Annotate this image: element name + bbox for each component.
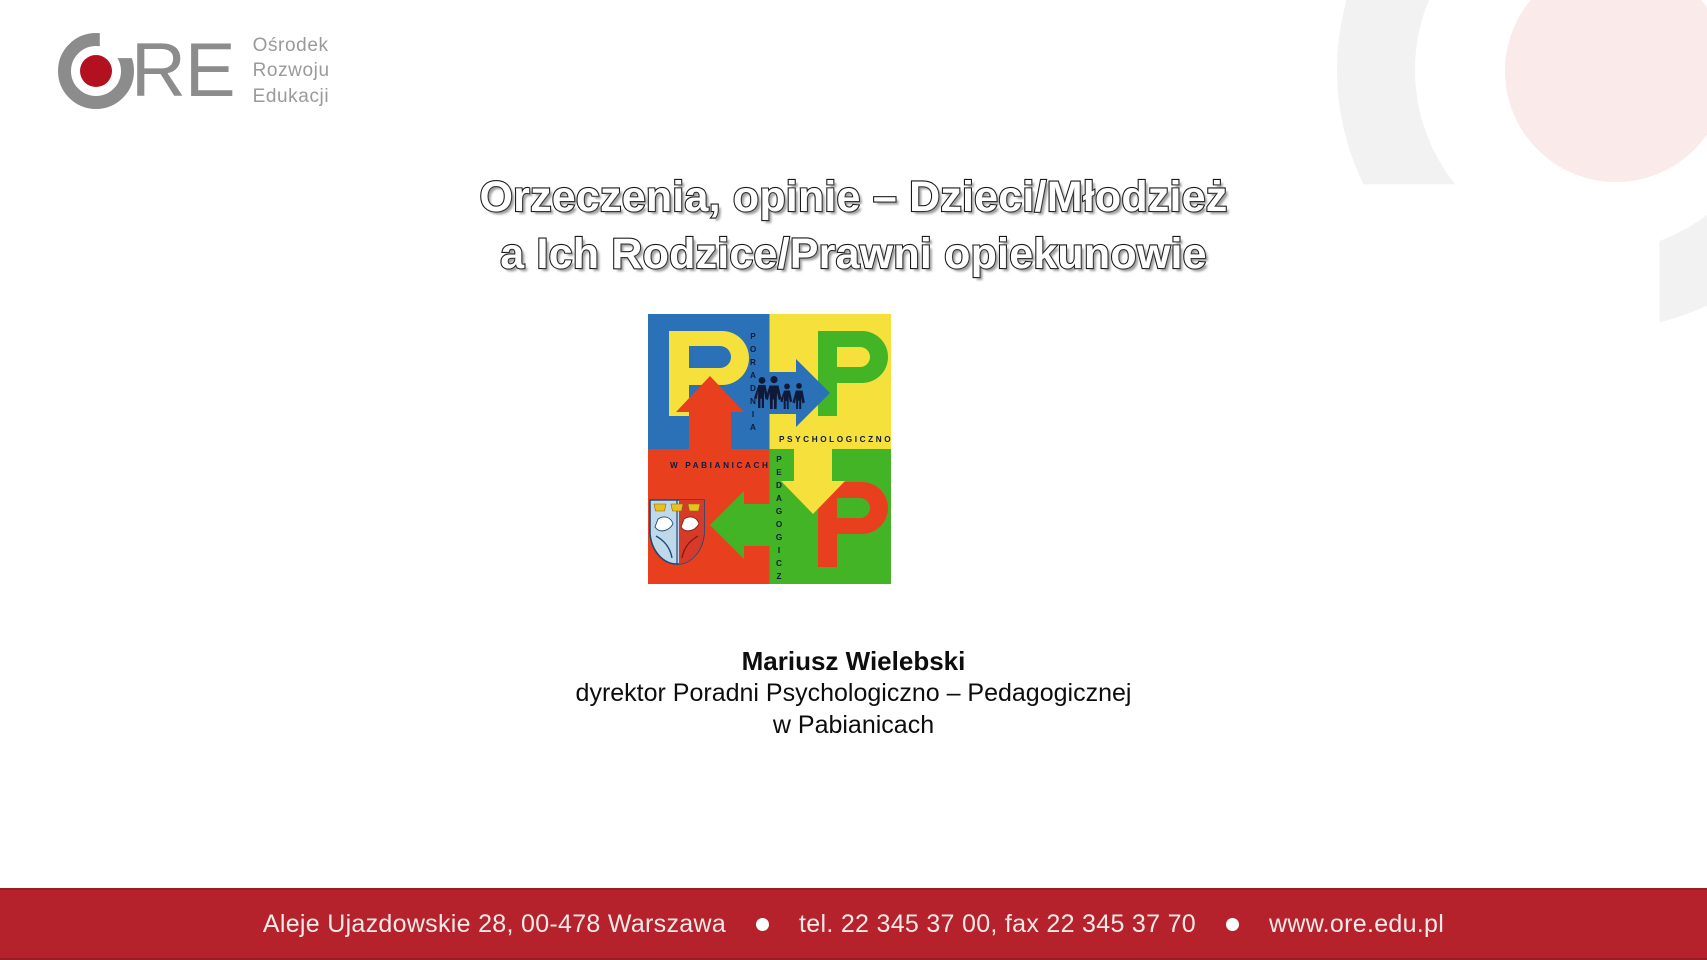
ore-logo: RE Ośrodek Rozwoju Edukacji (55, 30, 330, 112)
slide-title: Orzeczenia, opinie – Dzieci/Młodzież a I… (0, 169, 1707, 283)
svg-text:A: A (750, 371, 756, 380)
ore-logo-subtitle-line-2: Rozwoju (253, 58, 330, 83)
svg-text:A: A (776, 494, 782, 503)
emblem-text-pabianicach: W PABIANICACH (670, 461, 771, 470)
emblem-text-psychologiczno: PSYCHOLOGICZNO (779, 435, 891, 444)
ore-logo-mark-icon (55, 30, 145, 112)
svg-text:D: D (750, 384, 756, 393)
footer-website: www.ore.edu.pl (1269, 910, 1444, 939)
footer-phone: tel. 22 345 37 00, fax 22 345 37 70 (799, 910, 1196, 939)
svg-text:I: I (752, 410, 754, 419)
slide-title-line-1: Orzeczenia, opinie – Dzieci/Młodzież (0, 169, 1707, 226)
footer-separator-dot-icon (1226, 918, 1239, 931)
footer-address: Aleje Ujazdowskie 28, 00-478 Warszawa (263, 910, 726, 939)
svg-text:N: N (750, 397, 756, 406)
svg-text:D: D (776, 481, 782, 490)
author-city: w Pabianicach (0, 710, 1707, 742)
ore-logo-subtitle-line-1: Ośrodek (253, 33, 330, 58)
svg-text:G: G (776, 507, 782, 516)
svg-text:C: C (776, 559, 782, 568)
svg-text:G: G (776, 533, 782, 542)
author-name: Mariusz Wielebski (0, 645, 1707, 678)
svg-text:A: A (750, 423, 756, 432)
presentation-slide: RE Ośrodek Rozwoju Edukacji Orzeczenia, … (0, 0, 1707, 960)
author-block: Mariusz Wielebski dyrektor Poradni Psych… (0, 645, 1707, 742)
svg-text:O: O (750, 345, 757, 354)
ppp-emblem-image: POR ADN IA PSYCHOLOGICZNO W PABIANICACH … (648, 314, 891, 584)
svg-text:I: I (778, 546, 780, 555)
ore-logo-subtitle: Ośrodek Rozwoju Edukacji (253, 33, 330, 108)
svg-text:Z: Z (776, 572, 781, 581)
coat-of-arms-icon (650, 500, 704, 564)
footer-separator-dot-icon (756, 918, 769, 931)
svg-text:O: O (776, 520, 783, 529)
ore-wordmark: RE (131, 39, 235, 104)
watermark-dot-icon (1505, 0, 1707, 182)
ore-dot-icon (80, 55, 112, 87)
author-role: dyrektor Poradni Psychologiczno – Pedago… (0, 678, 1707, 710)
svg-text:R: R (750, 358, 756, 367)
ore-logo-subtitle-line-3: Edukacji (253, 84, 330, 109)
svg-text:P: P (776, 455, 782, 464)
slide-title-line-2: a Ich Rodzice/Prawni opiekunowie (0, 226, 1707, 283)
svg-text:E: E (776, 468, 782, 477)
footer-bar: Aleje Ujazdowskie 28, 00-478 Warszawa te… (0, 888, 1707, 960)
svg-text:P: P (750, 332, 756, 341)
footer-contact-info: Aleje Ujazdowskie 28, 00-478 Warszawa te… (263, 910, 1444, 939)
